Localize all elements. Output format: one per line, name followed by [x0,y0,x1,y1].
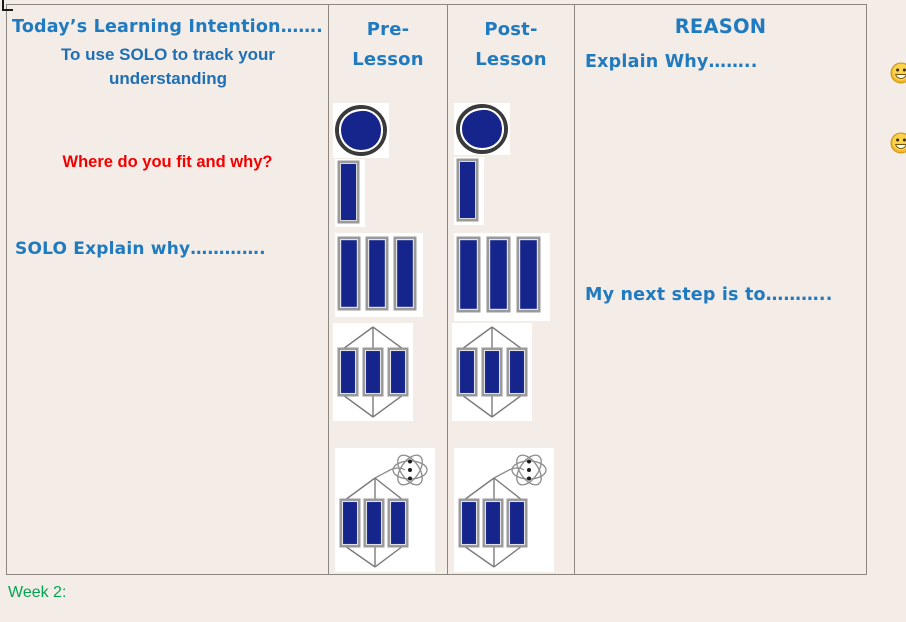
pre-lesson-header: Pre- Lesson [329,15,447,75]
next-step-label: My next step is to……….. [585,285,833,305]
explain-why-label: Explain Why…….. [585,52,758,72]
slide-canvas: Today’s Learning Intention……. To use SOL… [0,0,906,622]
pre-lesson-header-line2: Lesson [329,45,447,75]
post-lesson-header-line1: Post- [448,15,574,45]
where-do-you-fit-question: Where do you fit and why? [7,153,328,172]
solo-circle-icon[interactable] [454,103,510,155]
solo-extended-abstract-icon[interactable] [454,448,554,572]
solo-tracking-table: Today’s Learning Intention……. To use SOL… [6,4,867,575]
reason-header: REASON [575,15,866,38]
column-pre-lesson: Pre- Lesson [329,5,448,574]
learning-intention-heading: Today’s Learning Intention……. [7,17,328,37]
post-lesson-header-line2: Lesson [448,45,574,75]
column-reason: REASON Explain Why…….. My next step is t… [575,5,866,574]
solo-explain-why-label: SOLO Explain why…………. [15,239,266,259]
solo-circle-icon[interactable] [333,103,389,158]
solo-relational-icon[interactable] [333,323,413,421]
selection-handle[interactable] [2,0,13,11]
solo-three-bars-icon[interactable] [454,233,550,321]
solo-one-bar-icon[interactable] [335,159,365,227]
column-learning-intention: Today’s Learning Intention……. To use SOL… [7,5,329,574]
solo-relational-icon[interactable] [452,323,532,421]
learning-intention-text: To use SOLO to track your understanding [19,43,317,91]
post-lesson-header: Post- Lesson [448,15,574,75]
smiley-face-icon[interactable] [890,62,906,84]
smiley-face-icon[interactable] [890,132,906,154]
week-label: Week 2: [8,584,66,602]
solo-one-bar-icon[interactable] [454,157,484,225]
solo-extended-abstract-icon[interactable] [335,448,435,572]
pre-lesson-header-line1: Pre- [329,15,447,45]
solo-three-bars-icon[interactable] [335,233,423,317]
column-post-lesson: Post- Lesson [448,5,575,574]
